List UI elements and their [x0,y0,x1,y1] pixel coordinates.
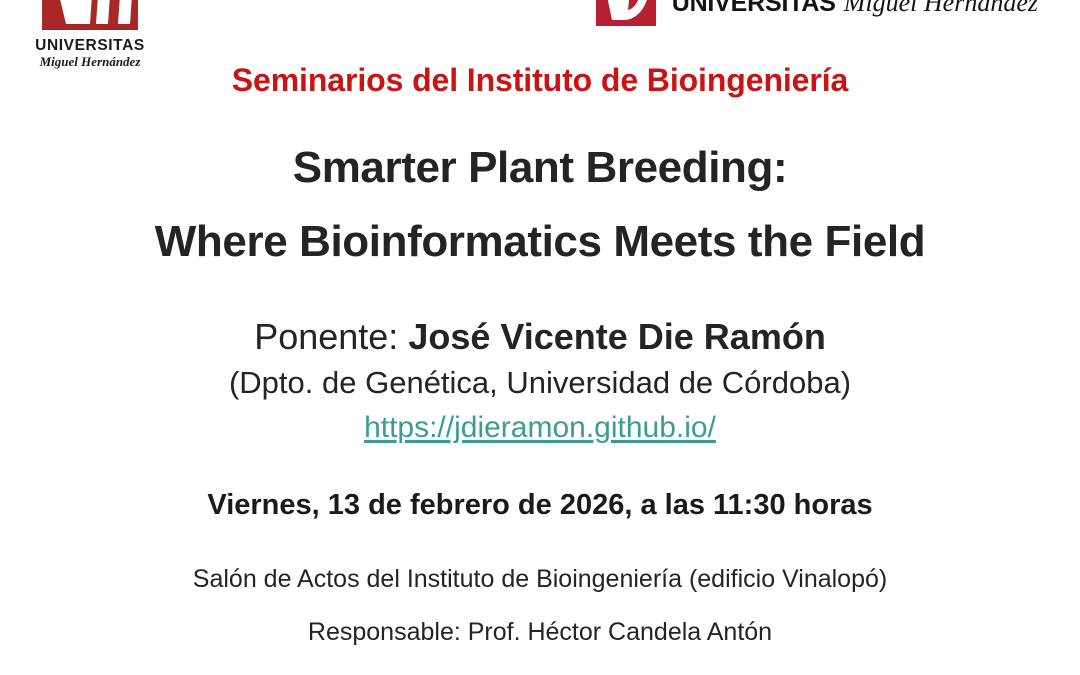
speaker-label: Ponente: [254,316,408,357]
event-venue: Salón de Actos del Instituto de Bioingen… [0,562,1080,596]
event-organizer: Responsable: Prof. Héctor Candela Antón [0,615,1080,649]
talk-title-line-2: Where Bioinformatics Meets the Field [0,205,1080,279]
talk-title-line-1: Smarter Plant Breeding: [0,131,1080,205]
umh-logo-left: UNIVERSITAS Miguel Hernández [28,0,152,70]
speaker-website[interactable]: https://jdieramon.github.io/ [0,409,1080,447]
umh-monogram-icon [38,0,142,36]
speaker-affiliation: (Dpto. de Genética, Universidad de Córdo… [0,363,1080,403]
speaker-name: José Vicente Die Ramón [408,316,826,357]
speaker-website-link[interactable]: https://jdieramon.github.io/ [364,411,716,444]
umh-monogram-icon [596,0,662,30]
speaker-line: Ponente: José Vicente Die Ramón [0,314,1080,360]
event-datetime: Viernes, 13 de febrero de 2026, a las 11… [0,486,1080,524]
umh-logo-right-wordmark: UNIVERSITAS Miguel Hernández [672,0,1038,30]
umh-logo-right-miguel-hernandez: Miguel Hernández [844,0,1038,18]
talk-title: Smarter Plant Breeding: Where Bioinforma… [0,131,1080,279]
umh-logo-right: UNIVERSITAS Miguel Hernández [596,0,1038,30]
umh-logo-left-universitas: UNIVERSITAS [28,38,152,54]
umh-logo-right-universitas: UNIVERSITAS [672,0,836,18]
series-title: Seminarios del Instituto de Bioingenierí… [0,62,1080,99]
seminar-poster: UNIVERSITAS Miguel Hernández UNIVERSITAS… [0,0,1080,675]
